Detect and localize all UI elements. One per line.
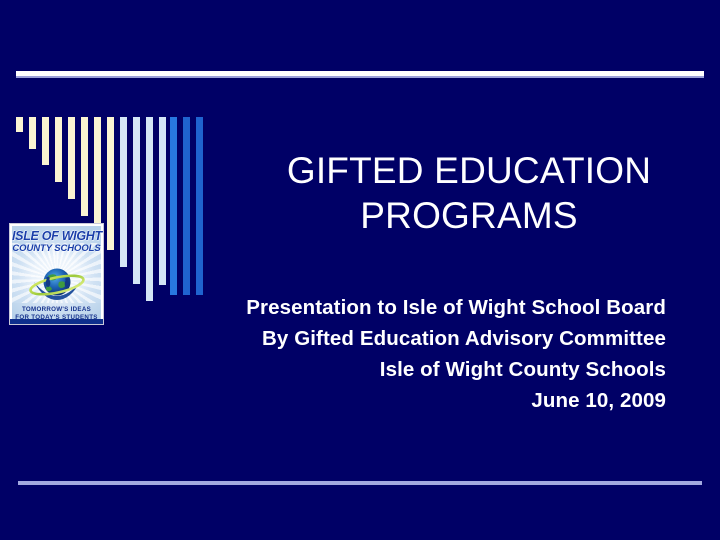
logo-title-line-1: ISLE OF WIGHT	[12, 229, 101, 243]
subtitle-line-district: Isle of Wight County Schools	[120, 354, 666, 385]
decorative-bar-10	[133, 117, 140, 284]
logo-tagline-line-1: TOMORROW'S IDEAS	[12, 306, 101, 313]
decorative-bar-12	[159, 117, 166, 285]
bottom-divider-rule	[18, 481, 702, 485]
decorative-bar-1	[16, 117, 23, 132]
slide-subtitle: Presentation to Isle of Wight School Boa…	[120, 292, 666, 416]
subtitle-line-date: June 10, 2009	[120, 385, 666, 416]
decorative-bar-13	[170, 117, 177, 295]
logo-title-line-2: COUNTY SCHOOLS	[12, 243, 101, 254]
decorative-bar-8	[107, 117, 114, 250]
decorative-bar-7	[94, 117, 101, 233]
bottom-divider-light-band	[18, 481, 702, 485]
logo-bottom-bar	[10, 319, 103, 324]
presentation-slide: ISLE OF WIGHT COUNTY SCHOOLS	[0, 0, 720, 540]
slide-title-line-1: GIFTED EDUCATION	[236, 148, 702, 193]
subtitle-line-committee: By Gifted Education Advisory Committee	[120, 323, 666, 354]
logo-background: ISLE OF WIGHT COUNTY SCHOOLS	[12, 226, 101, 322]
slide-title-line-2: PROGRAMS	[236, 193, 702, 238]
decorative-bar-15	[196, 117, 203, 295]
subtitle-line-presentation: Presentation to Isle of Wight School Boa…	[120, 292, 666, 323]
decorative-bar-2	[29, 117, 36, 149]
decorative-bar-11	[146, 117, 153, 301]
school-district-logo: ISLE OF WIGHT COUNTY SCHOOLS	[9, 223, 104, 325]
decorative-bar-6	[81, 117, 88, 216]
decorative-bar-9	[120, 117, 127, 267]
globe-icon	[26, 266, 88, 309]
decorative-bar-14	[183, 117, 190, 295]
decorative-bar-4	[55, 117, 62, 182]
slide-title: GIFTED EDUCATION PROGRAMS	[236, 148, 702, 238]
decorative-bar-5	[68, 117, 75, 199]
decorative-bar-3	[42, 117, 49, 165]
